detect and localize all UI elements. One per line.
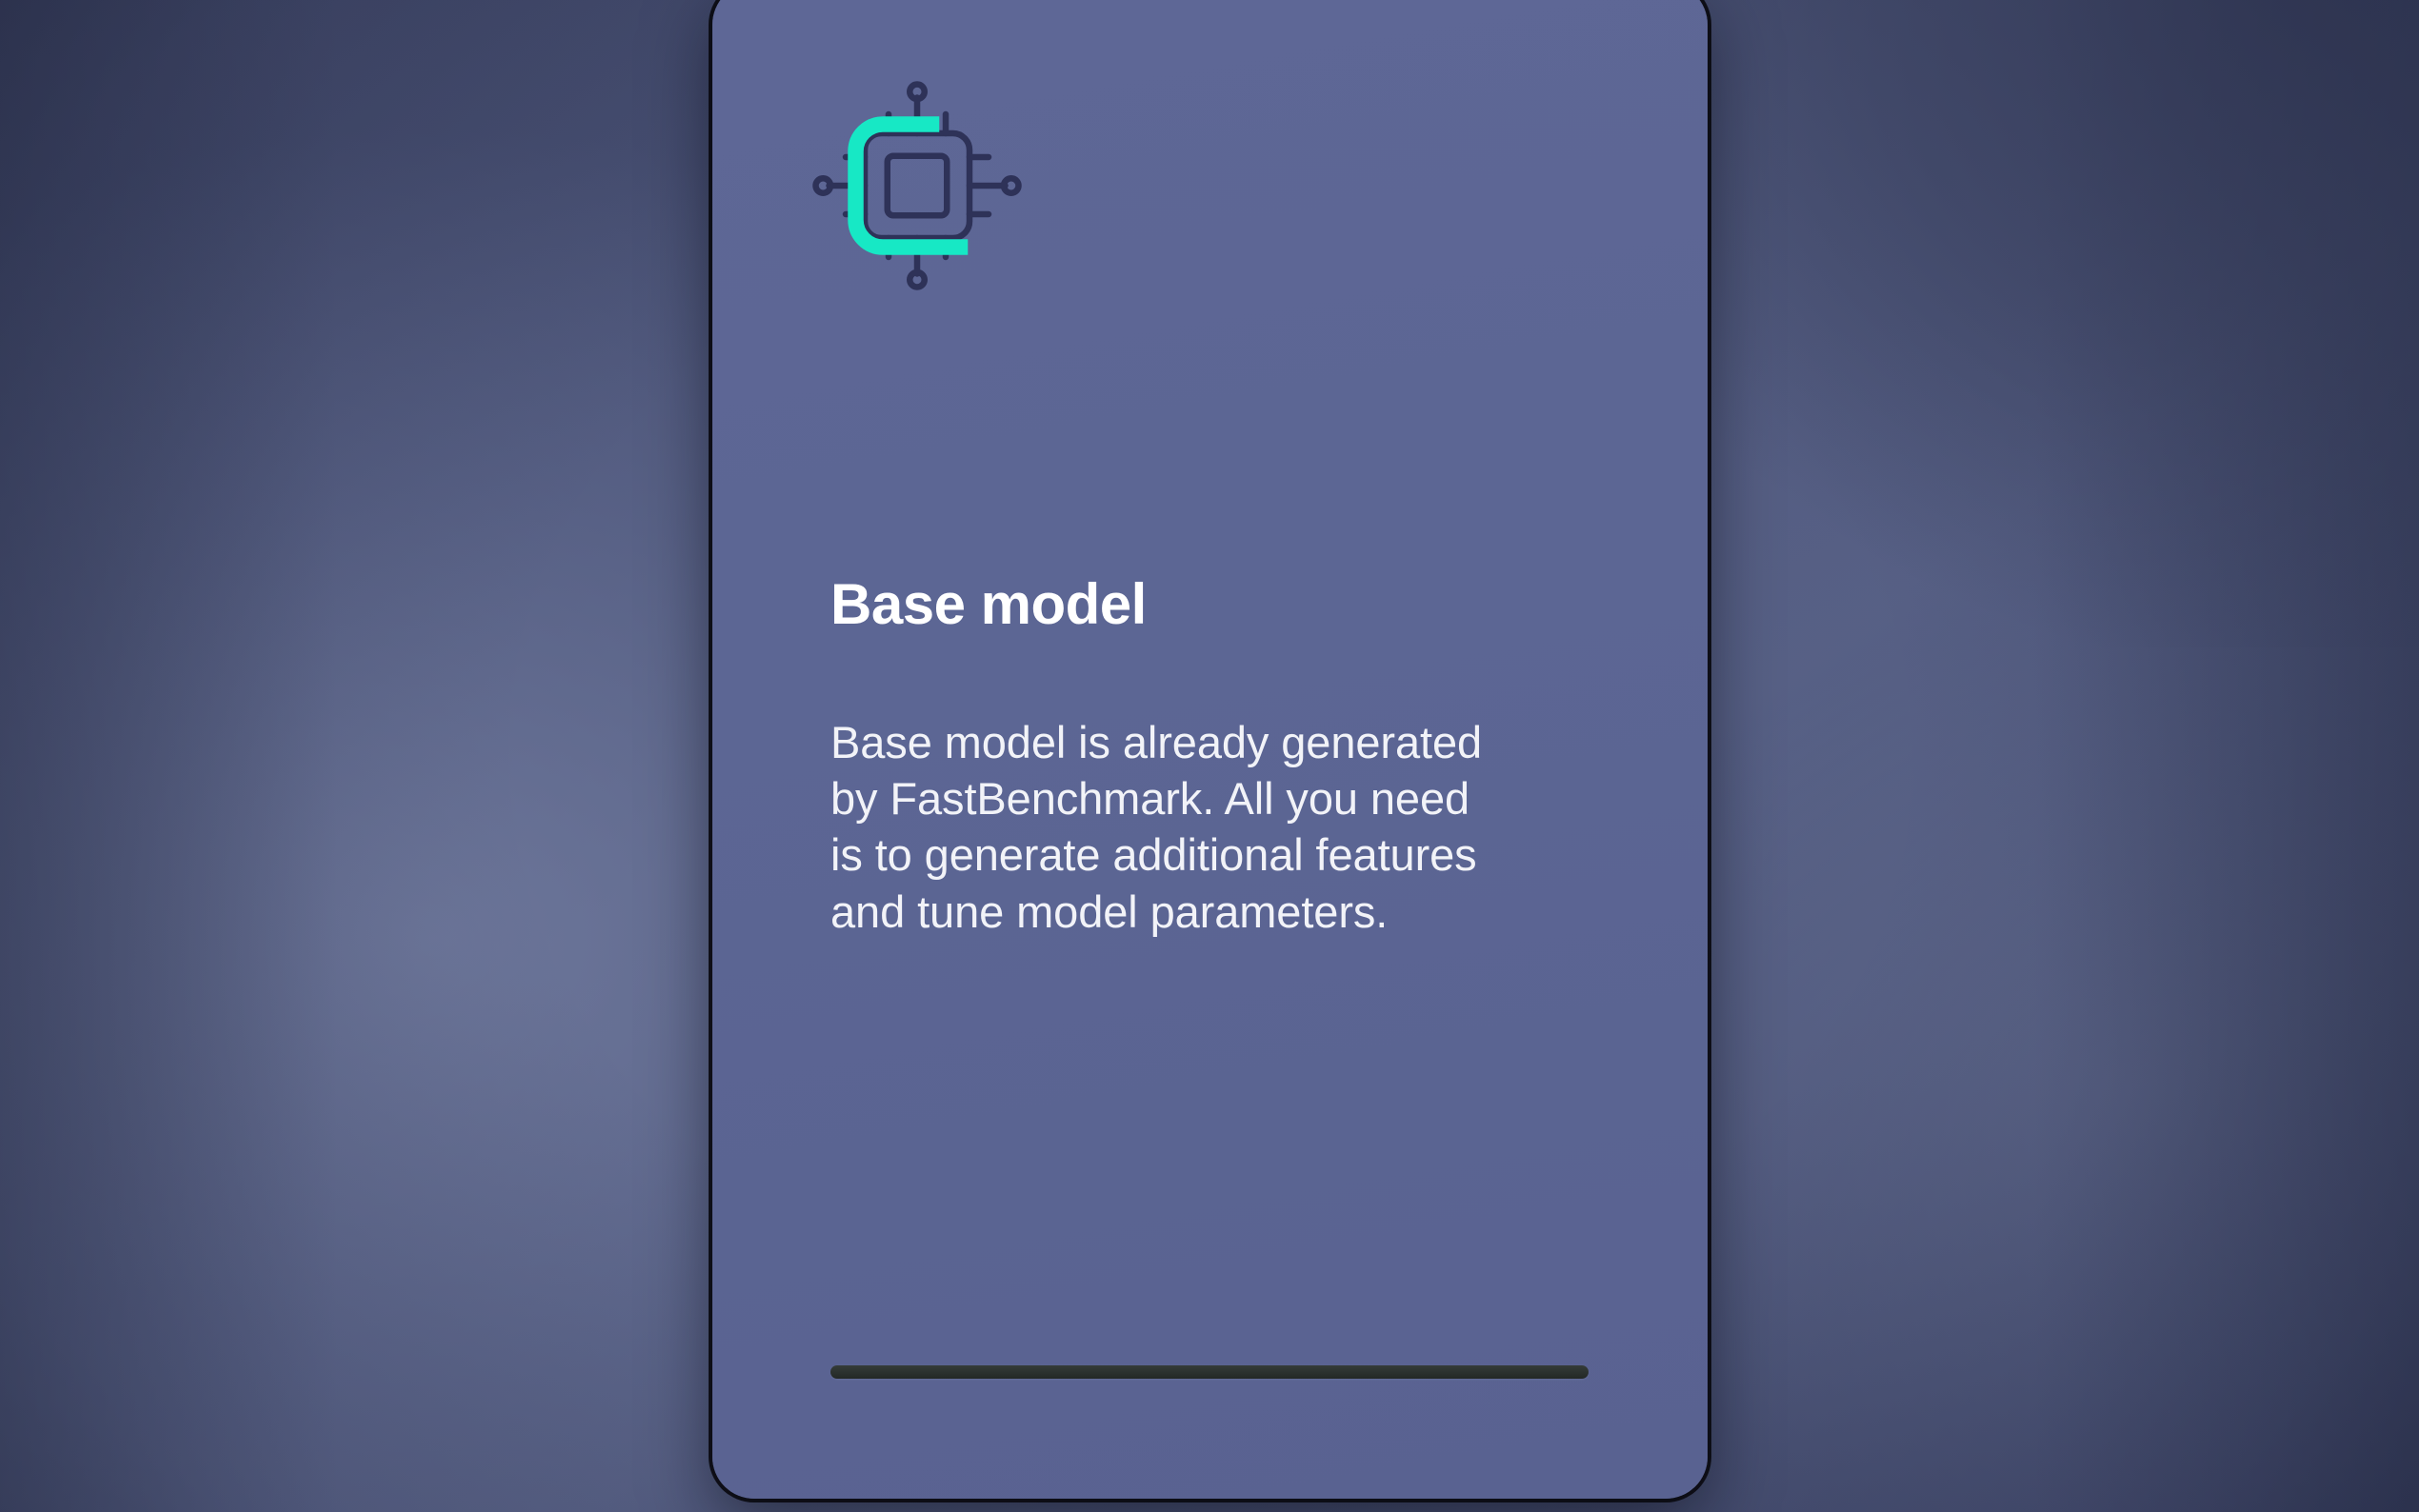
screen-root: Base model Base model is already generat… — [0, 0, 2419, 1512]
card-content: Base model Base model is already generat… — [712, 0, 1708, 1499]
progress-bar[interactable] — [830, 1365, 1589, 1379]
cpu-chip-icon — [798, 67, 1036, 305]
card-title: Base model — [830, 573, 1611, 636]
card-description: Base model is already generated by FastB… — [830, 714, 1497, 940]
base-model-card[interactable]: Base model Base model is already generat… — [712, 0, 1708, 1499]
